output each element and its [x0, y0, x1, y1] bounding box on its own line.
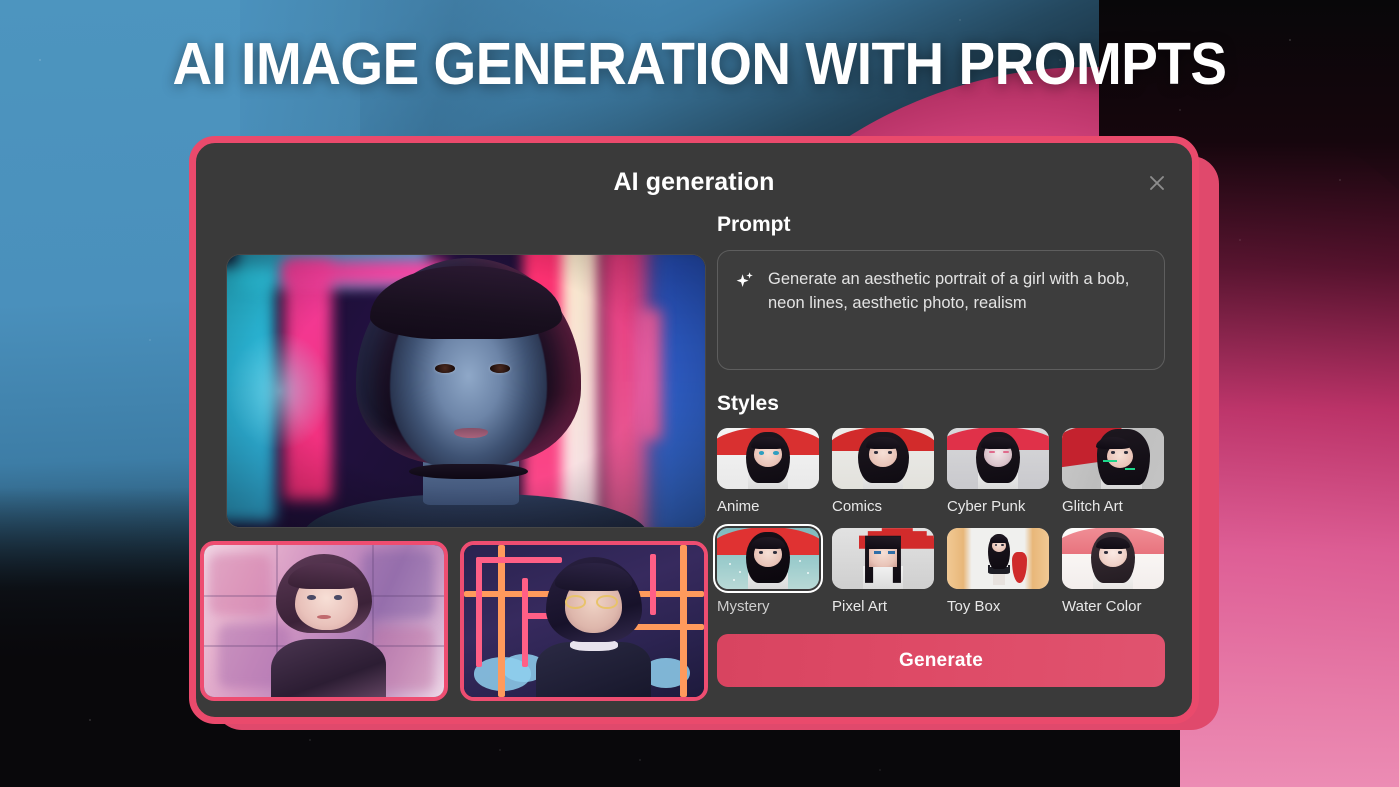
generate-button[interactable]: Generate	[717, 634, 1165, 687]
sparkle-icon	[734, 270, 756, 297]
prompt-label: Prompt	[717, 213, 1169, 237]
style-label-pixel-art: Pixel Art	[832, 598, 934, 615]
modal-right-column: Prompt Generate an aesthetic portrait of…	[717, 213, 1169, 687]
style-label-comics: Comics	[832, 498, 934, 515]
style-option-water-color[interactable]: Water Color	[1062, 528, 1164, 615]
style-label-cyber-punk: Cyber Punk	[947, 498, 1049, 515]
style-thumb-cyber-punk	[947, 428, 1049, 489]
style-option-pixel-art[interactable]: Pixel Art	[832, 528, 934, 615]
style-thumb-pixel-art	[832, 528, 934, 589]
generated-image-preview[interactable]	[227, 255, 705, 527]
screenshot-stage: AI IMAGE GENERATION WITH PROMPTS AI gene…	[0, 0, 1399, 787]
neon-portrait-image	[227, 255, 705, 527]
style-label-anime: Anime	[717, 498, 819, 515]
style-thumb-toy-box	[947, 528, 1049, 589]
style-label-toy-box: Toy Box	[947, 598, 1049, 615]
style-option-comics[interactable]: Comics	[832, 428, 934, 515]
style-label-mystery: Mystery	[717, 598, 819, 615]
modal-title: AI generation	[196, 168, 1192, 197]
page-title: AI IMAGE GENERATION WITH PROMPTS	[49, 30, 1350, 98]
thumbnail-strip	[196, 541, 716, 711]
style-thumb-anime	[717, 428, 819, 489]
thumbnail-comic-illustration[interactable]	[460, 541, 708, 701]
prompt-text-value: Generate an aesthetic portrait of a girl…	[768, 268, 1138, 316]
prompt-input[interactable]: Generate an aesthetic portrait of a girl…	[717, 250, 1165, 370]
ai-generation-modal: AI generation	[189, 136, 1199, 724]
close-icon[interactable]	[1143, 169, 1171, 197]
style-option-glitch-art[interactable]: Glitch Art	[1062, 428, 1164, 515]
style-thumb-comics	[832, 428, 934, 489]
thumbnail-water-color[interactable]	[200, 541, 448, 701]
style-option-cyber-punk[interactable]: Cyber Punk	[947, 428, 1049, 515]
style-thumb-glitch-art	[1062, 428, 1164, 489]
styles-label: Styles	[717, 392, 1169, 416]
style-thumb-water-color	[1062, 528, 1164, 589]
style-label-water-color: Water Color	[1062, 598, 1164, 615]
style-option-mystery[interactable]: Mystery	[717, 528, 819, 615]
style-label-glitch-art: Glitch Art	[1062, 498, 1164, 515]
style-thumb-mystery	[717, 528, 819, 589]
style-option-anime[interactable]: Anime	[717, 428, 819, 515]
styles-grid: Anime Comics	[717, 428, 1169, 615]
style-option-toy-box[interactable]: Toy Box	[947, 528, 1049, 615]
